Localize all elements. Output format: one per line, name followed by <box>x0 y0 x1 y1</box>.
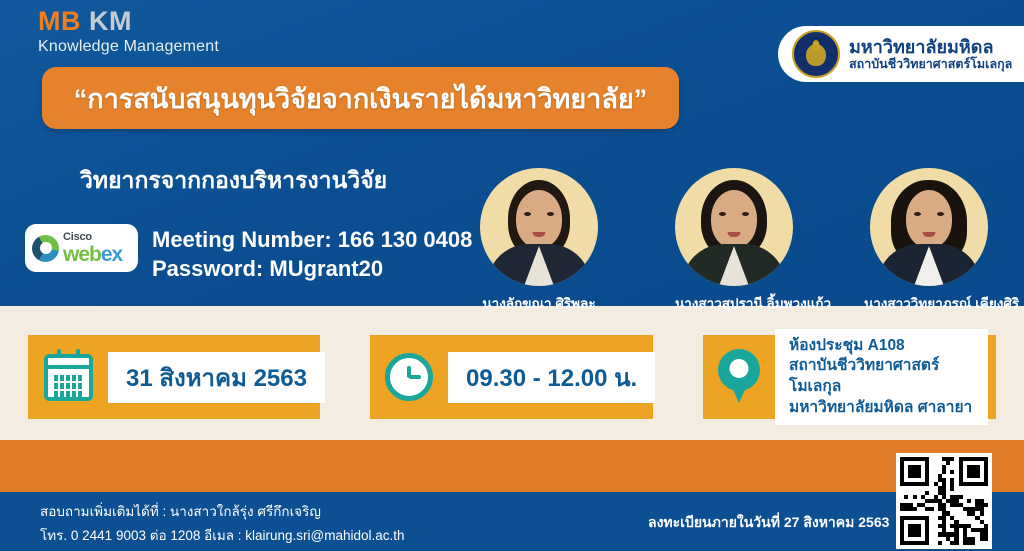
mbkm-logo: MB KM Knowledge Management <box>38 8 219 55</box>
location-pin-icon <box>703 349 775 405</box>
event-location-line1: ห้องประชุม A108 <box>789 336 974 357</box>
university-logo-plate: มหาวิทยาลัยมหิดล สถาบันชีววิทยาศาสตร์โมเ… <box>778 26 1024 82</box>
speaker-3: นางสาววิทยาภรณ์ เคียงศิริ <box>870 168 988 314</box>
speaker-portrait-icon <box>480 168 598 286</box>
webex-product-part1: web <box>63 243 101 266</box>
speakers-intro-label: วิทยากรจากกองบริหารงานวิจัย <box>80 163 387 199</box>
event-time-value: 09.30 - 12.00 น. <box>448 352 655 403</box>
meeting-number-line: Meeting Number: 166 130 0408 <box>152 225 472 254</box>
webex-product-part2: ex <box>101 243 122 266</box>
mbkm-logo-km: KM <box>89 6 132 36</box>
university-logo-text: มหาวิทยาลัยมหิดล สถาบันชีววิทยาศาสตร์โมเ… <box>849 37 1012 71</box>
speaker-3-name: นางสาววิทยาภรณ์ เคียงศิริ <box>864 292 988 314</box>
university-institute: สถาบันชีววิทยาศาสตร์โมเลกุล <box>849 57 1012 71</box>
speaker-1: นางลักขณา ศิริพละ <box>480 168 598 314</box>
page-title: “การสนับสนุนทุนวิจัยจากเงินรายได้มหาวิทย… <box>74 77 647 120</box>
event-location-value: ห้องประชุม A108 สถาบันชีววิทยาศาสตร์โมเล… <box>775 329 988 425</box>
meeting-password-line: Password: MUgrant20 <box>152 254 472 283</box>
mahidol-seal-icon <box>792 30 840 78</box>
webex-swirl-icon <box>32 235 59 262</box>
speaker-1-name: นางลักขณา ศิริพละ <box>480 292 598 314</box>
footer-contact-info: สอบถามเพิ่มเติมได้ที่ : นางสาวใกล้รุ่ง ศ… <box>40 500 405 547</box>
clock-icon <box>370 353 448 401</box>
speaker-2: นางสาวสุปรานี ลิ้มพวงแก้ว <box>675 168 793 314</box>
speaker-portrait-icon <box>870 168 988 286</box>
event-location-line3: มหาวิทยาลัยมหิดล ศาลายา <box>789 398 974 419</box>
webex-wordmark: Cisco webex <box>63 232 122 265</box>
webex-product-text: webex <box>63 244 122 265</box>
qr-code-matrix <box>900 457 988 545</box>
mbkm-logo-subtitle: Knowledge Management <box>38 39 219 55</box>
event-location-line2: สถาบันชีววิทยาศาสตร์โมเลกุล <box>789 356 974 397</box>
qr-code-icon[interactable] <box>896 453 992 549</box>
footer-contact-line2: โทร. 0 2441 9003 ต่อ 1208 อีเมล : klairu… <box>40 524 405 548</box>
speaker-2-name: นางสาวสุปรานี ลิ้มพวงแก้ว <box>675 292 793 314</box>
webex-brand-text: Cisco <box>63 232 122 243</box>
mbkm-logo-wordmark: MB KM <box>38 8 219 35</box>
event-poster: MB KM Knowledge Management มหาวิทยาลัยมห… <box>0 0 1024 551</box>
footer-contact-line1: สอบถามเพิ่มเติมได้ที่ : นางสาวใกล้รุ่ง ศ… <box>40 500 405 524</box>
background-band-orange <box>0 440 1024 492</box>
meeting-details: Meeting Number: 166 130 0408 Password: M… <box>152 225 472 284</box>
registration-deadline-note: ลงทะเบียนภายในวันที่ 27 สิงหาคม 2563 <box>648 512 889 534</box>
poster-title-banner: “การสนับสนุนทุนวิจัยจากเงินรายได้มหาวิทย… <box>42 67 679 129</box>
calendar-icon <box>28 354 108 401</box>
event-date-card: 31 สิงหาคม 2563 <box>28 335 320 419</box>
mbkm-logo-mb: MB <box>38 6 81 36</box>
event-date-value: 31 สิงหาคม 2563 <box>108 352 325 403</box>
cisco-webex-logo: Cisco webex <box>25 224 138 272</box>
event-location-card: ห้องประชุม A108 สถาบันชีววิทยาศาสตร์โมเล… <box>703 335 996 419</box>
event-time-card: 09.30 - 12.00 น. <box>370 335 653 419</box>
university-name: มหาวิทยาลัยมหิดล <box>849 37 1012 57</box>
speaker-portrait-icon <box>675 168 793 286</box>
